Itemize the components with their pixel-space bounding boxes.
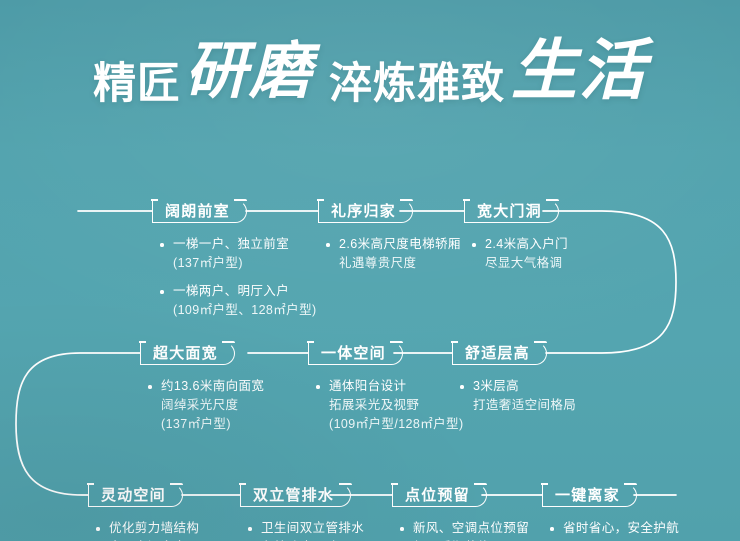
bullet-subline: (137㎡户型)	[159, 254, 317, 273]
card-body: 新风、空调点位预留 便于后期装修	[399, 519, 529, 541]
title-segment-4: 生活	[511, 37, 647, 103]
bullet-item: 一梯两户、明厅入户 (109㎡户型、128㎡户型)	[159, 282, 317, 320]
bullet-line: 优化剪力墙结构	[95, 519, 199, 538]
bullet-subline: (109㎡户型、128㎡户型)	[159, 301, 317, 320]
card-body: 卫生间双立管排水 有效防止异味	[247, 519, 364, 541]
card-body: 通体阳台设计 拓展采光及视野 (109㎡户型/128㎡户型)	[315, 377, 464, 434]
bullet-item: 约13.6米南向面宽 阔绰采光尺度 (137㎡户型)	[147, 377, 264, 434]
bullet-subline: 尽显大气格调	[471, 254, 568, 273]
bullet-subline: 拓展采光及视野	[315, 396, 464, 415]
bullet-line: 省时省心，安全护航	[549, 519, 679, 538]
bullet-line: 一梯一户、独立前室	[159, 235, 317, 254]
feature-card-kuanda-mendong[interactable]: 宽大门洞 2.4米高入户门 尽显大气格调	[464, 200, 568, 282]
feature-card-chaoda-miankuan[interactable]: 超大面宽 约13.6米南向面宽 阔绰采光尺度 (137㎡户型)	[140, 342, 264, 443]
card-title: 点位预留	[392, 484, 487, 507]
bullet-line: 通体阳台设计	[315, 377, 464, 396]
bullet-subline: 阔绰采光尺度	[147, 396, 264, 415]
card-body: 2.4米高入户门 尽显大气格调	[471, 235, 568, 273]
bullet-subline: 打造奢适空间格局	[459, 396, 576, 415]
bullet-line: 约13.6米南向面宽	[147, 377, 264, 396]
bullet-line: 卫生间双立管排水	[247, 519, 364, 538]
bullet-item: 2.4米高入户门 尽显大气格调	[471, 235, 568, 273]
card-title: 宽大门洞	[464, 200, 559, 223]
feature-card-yiti-kongjian[interactable]: 一体空间 通体阳台设计 拓展采光及视野 (109㎡户型/128㎡户型)	[308, 342, 464, 443]
card-title: 双立管排水	[240, 484, 351, 507]
title-segment-2: 研磨	[185, 40, 313, 102]
bullet-item: 新风、空调点位预留 便于后期装修	[399, 519, 529, 541]
feature-card-shushi-cenggao[interactable]: 舒适层高 3米层高 打造奢适空间格局	[452, 342, 576, 424]
card-title: 一键离家	[542, 484, 637, 507]
bullet-line: 一梯两户、明厅入户	[159, 282, 317, 301]
bullet-item: 卫生间双立管排水 有效防止异味	[247, 519, 364, 541]
feature-card-lingdong-kongjian[interactable]: 灵动空间 优化剪力墙结构 实现空间多变	[88, 484, 199, 541]
bullet-line: 2.4米高入户门	[471, 235, 568, 254]
feature-card-yijian-lijia[interactable]: 一键离家 省时省心，安全护航	[542, 484, 679, 541]
card-title: 一体空间	[308, 342, 403, 365]
card-body: 一梯一户、独立前室 (137㎡户型) 一梯两户、明厅入户 (109㎡户型、128…	[159, 235, 317, 320]
feature-card-dianwei-yuliu[interactable]: 点位预留 新风、空调点位预留 便于后期装修	[392, 484, 529, 541]
page-title: 精匠研磨淬炼雅致生活	[0, 34, 740, 100]
card-title: 阔朗前室	[152, 200, 247, 223]
bullet-line: 3米层高	[459, 377, 576, 396]
bullet-item: 省时省心，安全护航	[549, 519, 679, 538]
card-title: 灵动空间	[88, 484, 183, 507]
card-body: 优化剪力墙结构 实现空间多变	[95, 519, 199, 541]
title-segment-1: 精匠	[93, 63, 181, 106]
bullet-item: 一梯一户、独立前室 (137㎡户型)	[159, 235, 317, 273]
card-body: 省时省心，安全护航	[549, 519, 679, 538]
card-body: 约13.6米南向面宽 阔绰采光尺度 (137㎡户型)	[147, 377, 264, 434]
title-segment-3: 淬炼雅致	[329, 63, 505, 106]
bullet-item: 通体阳台设计 拓展采光及视野 (109㎡户型/128㎡户型)	[315, 377, 464, 434]
bullet-subline: 礼遇尊贵尺度	[325, 254, 461, 273]
feature-card-kuolang-qianshi[interactable]: 阔朗前室 一梯一户、独立前室 (137㎡户型) 一梯两户、明厅入户 (109㎡户…	[152, 200, 317, 329]
card-title: 舒适层高	[452, 342, 547, 365]
card-title: 超大面宽	[140, 342, 235, 365]
poster-canvas: 精匠研磨淬炼雅致生活 阔朗前室 一梯一户、独立前室 (137㎡户型) 一梯两户、…	[0, 0, 740, 541]
bullet-subline: (137㎡户型)	[147, 415, 264, 434]
bullet-item: 3米层高 打造奢适空间格局	[459, 377, 576, 415]
bullet-line: 2.6米高尺度电梯轿厢	[325, 235, 461, 254]
bullet-line: 新风、空调点位预留	[399, 519, 529, 538]
feature-card-shuangliguan-paishui[interactable]: 双立管排水 卫生间双立管排水 有效防止异味	[240, 484, 364, 541]
card-title: 礼序归家	[318, 200, 413, 223]
card-body: 3米层高 打造奢适空间格局	[459, 377, 576, 415]
feature-card-lixu-guijia[interactable]: 礼序归家 2.6米高尺度电梯轿厢 礼遇尊贵尺度	[318, 200, 461, 282]
card-body: 2.6米高尺度电梯轿厢 礼遇尊贵尺度	[325, 235, 461, 273]
bullet-item: 2.6米高尺度电梯轿厢 礼遇尊贵尺度	[325, 235, 461, 273]
bullet-subline: (109㎡户型/128㎡户型)	[315, 415, 464, 434]
connector-left-uturn	[16, 353, 140, 495]
bullet-item: 优化剪力墙结构 实现空间多变	[95, 519, 199, 541]
